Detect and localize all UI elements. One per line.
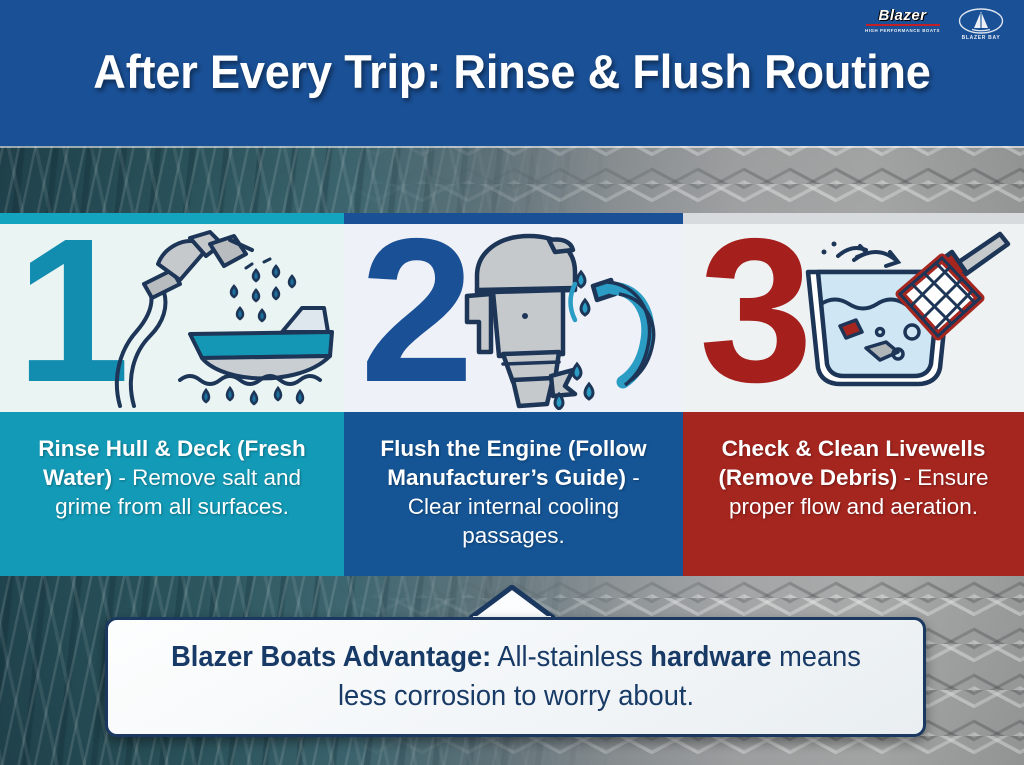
callout-body-before: All-stainless xyxy=(491,641,650,673)
step-1-text: Rinse Hull & Deck (Fresh Water) - Remove… xyxy=(16,434,328,521)
livewell-net-debris-icon xyxy=(794,228,1014,410)
header-bar: After Every Trip: Rinse & Flush Routine … xyxy=(0,0,1024,146)
step-1-body: Rinse Hull & Deck (Fresh Water) - Remove… xyxy=(0,412,344,576)
step-2-separator: - xyxy=(626,465,640,490)
step-3-text: Check & Clean Livewells (Remove Debris) … xyxy=(699,434,1008,521)
steps-row: 1 xyxy=(0,213,1024,576)
step-1-separator: - xyxy=(112,465,132,490)
step-card-1[interactable]: 1 xyxy=(0,213,344,576)
advantage-callout: Blazer Boats Advantage: All-stainless ha… xyxy=(105,617,926,737)
blazer-red-rule xyxy=(866,24,940,26)
step-3-number: 3 xyxy=(699,213,807,413)
blazer-wordmark: Blazer xyxy=(879,8,927,23)
step-3-body: Check & Clean Livewells (Remove Debris) … xyxy=(683,412,1024,576)
step-card-3[interactable]: 3 xyxy=(683,213,1024,576)
step-card-2[interactable]: 2 xyxy=(344,213,683,576)
hose-spraying-boat-icon xyxy=(106,228,338,410)
callout-lead: Blazer Boats Advantage: xyxy=(171,641,491,673)
page-title: After Every Trip: Rinse & Flush Routine xyxy=(20,44,1003,99)
blazer-tagline: HIGH PERFORMANCE BOATS xyxy=(865,28,940,34)
blazer-boats-logo: Blazer HIGH PERFORMANCE BOATS xyxy=(865,8,940,34)
outboard-engine-flush-icon xyxy=(447,228,657,410)
step-2-description: Clear internal cooling passages. xyxy=(408,494,619,548)
callout-emphasis: hardware xyxy=(650,641,771,673)
step-2-text: Flush the Engine (Follow Manufacturer’s … xyxy=(360,434,667,550)
callout-pointer xyxy=(469,585,555,621)
step-3-separator: - xyxy=(897,465,917,490)
brand-logos: Blazer HIGH PERFORMANCE BOATS BLAZER BAY xyxy=(865,8,1010,41)
blazer-bay-logo: BLAZER BAY xyxy=(952,8,1010,41)
infographic-page: After Every Trip: Rinse & Flush Routine … xyxy=(0,0,1024,765)
step-2-visual: 2 xyxy=(344,224,683,412)
callout-text: Blazer Boats Advantage: All-stainless ha… xyxy=(144,638,887,716)
step-2-body: Flush the Engine (Follow Manufacturer’s … xyxy=(344,412,683,576)
step-2-title: Flush the Engine (Follow Manufacturer’s … xyxy=(380,436,646,490)
blazer-bay-label: BLAZER BAY xyxy=(962,35,1001,41)
step-3-visual: 3 xyxy=(683,224,1024,412)
blazer-bay-sail-icon xyxy=(958,8,1004,34)
step-1-visual: 1 xyxy=(0,224,344,412)
